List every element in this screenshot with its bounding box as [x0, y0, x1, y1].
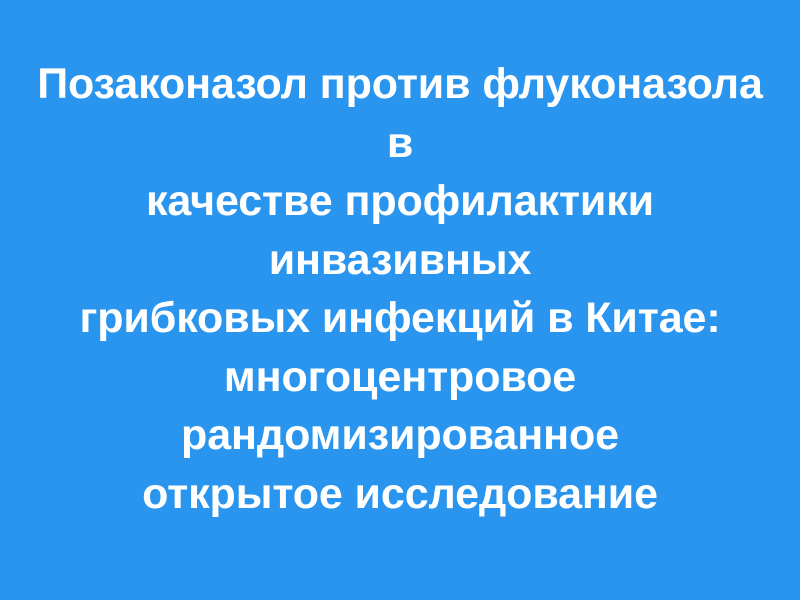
page-title: Позаконазол против флуконазола в качеств… [34, 55, 766, 523]
title-card-slide: Позаконазол против флуконазола в качеств… [0, 0, 800, 600]
title-block: Позаконазол против флуконазола в качеств… [20, 55, 780, 545]
